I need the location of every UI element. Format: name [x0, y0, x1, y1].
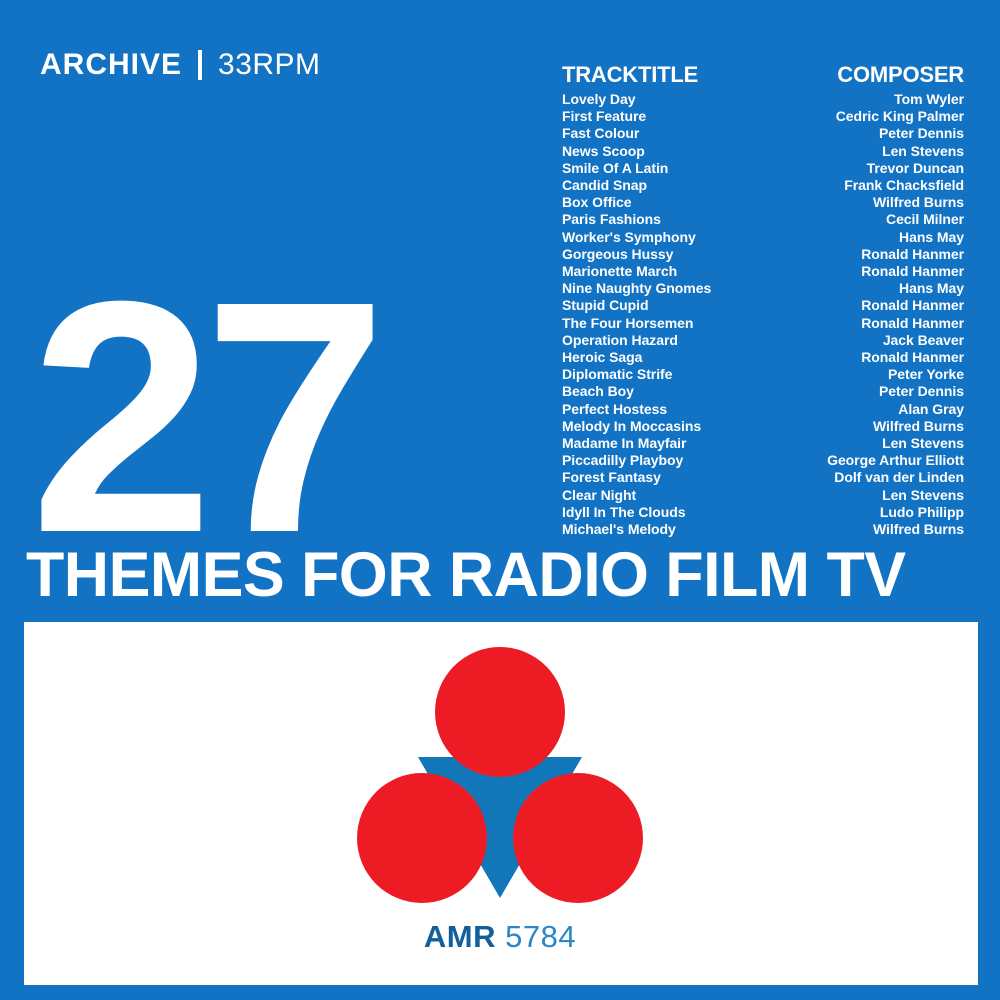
track-composer: George Arthur Elliott [827, 452, 964, 469]
track-title: Forest Fantasy [562, 469, 661, 486]
tracklist-row: Worker's SymphonyHans May [562, 229, 964, 246]
track-composer: Trevor Duncan [867, 160, 964, 177]
column-header-composer: COMPOSER [837, 62, 964, 87]
track-title: Madame In Mayfair [562, 435, 686, 452]
track-composer: Ludo Philipp [880, 504, 964, 521]
tracklist-row: Piccadilly PlayboyGeorge Arthur Elliott [562, 452, 964, 469]
track-composer: Len Stevens [882, 143, 964, 160]
track-composer: Hans May [899, 280, 964, 297]
track-title: Heroic Saga [562, 349, 642, 366]
tracklist-row: Beach BoyPeter Dennis [562, 383, 964, 400]
tracklist: TRACKTITLE COMPOSER Lovely DayTom WylerF… [562, 62, 964, 538]
track-count-numeral: 27 [30, 252, 377, 582]
track-title: Stupid Cupid [562, 297, 649, 314]
logo-circle-right-icon [513, 773, 643, 903]
track-title: First Feature [562, 108, 646, 125]
track-composer: Ronald Hanmer [861, 297, 964, 314]
tracklist-header: TRACKTITLE COMPOSER [562, 62, 964, 87]
brand-divider [198, 50, 202, 80]
catalogue-number: AMR 5784 [0, 920, 1000, 954]
track-composer: Tom Wyler [894, 91, 964, 108]
tracklist-row: First FeatureCedric King Palmer [562, 108, 964, 125]
tracklist-row: Smile Of A LatinTrevor Duncan [562, 160, 964, 177]
track-composer: Peter Dennis [879, 383, 964, 400]
tracklist-row: Clear NightLen Stevens [562, 487, 964, 504]
track-title: Melody In Moccasins [562, 418, 701, 435]
tracklist-row: Diplomatic StrifePeter Yorke [562, 366, 964, 383]
tracklist-row: Perfect HostessAlan Gray [562, 401, 964, 418]
tracklist-row: Michael's MelodyWilfred Burns [562, 521, 964, 538]
track-composer: Wilfred Burns [873, 418, 964, 435]
track-title: Marionette March [562, 263, 677, 280]
tracklist-row: Paris FashionsCecil Milner [562, 211, 964, 228]
track-composer: Cedric King Palmer [836, 108, 964, 125]
track-composer: Jack Beaver [883, 332, 964, 349]
logo-circle-left-icon [357, 773, 487, 903]
tracklist-row: Fast ColourPeter Dennis [562, 125, 964, 142]
track-title: Worker's Symphony [562, 229, 696, 246]
tracklist-row: Heroic SagaRonald Hanmer [562, 349, 964, 366]
track-composer: Ronald Hanmer [861, 315, 964, 332]
track-title: Perfect Hostess [562, 401, 667, 418]
track-composer: Hans May [899, 229, 964, 246]
track-composer: Wilfred Burns [873, 194, 964, 211]
track-title: Diplomatic Strife [562, 366, 672, 383]
track-composer: Len Stevens [882, 435, 964, 452]
brand-name: ARCHIVE [40, 48, 182, 82]
tracklist-row: Nine Naughty GnomesHans May [562, 280, 964, 297]
catalogue-digits: 5784 [505, 919, 576, 954]
track-composer: Ronald Hanmer [861, 263, 964, 280]
tracklist-row: Melody In MoccasinsWilfred Burns [562, 418, 964, 435]
track-composer: Cecil Milner [886, 211, 964, 228]
track-title: Nine Naughty Gnomes [562, 280, 711, 297]
tracklist-rows: Lovely DayTom WylerFirst FeatureCedric K… [562, 91, 964, 538]
tracklist-row: Forest FantasyDolf van der Linden [562, 469, 964, 486]
track-composer: Alan Gray [898, 401, 964, 418]
track-title: News Scoop [562, 143, 645, 160]
album-cover: ARCHIVE 33RPM TRACKTITLE COMPOSER Lovely… [0, 0, 1000, 1000]
track-title: Box Office [562, 194, 632, 211]
track-composer: Ronald Hanmer [861, 246, 964, 263]
track-composer: Peter Yorke [888, 366, 964, 383]
track-title: The Four Horsemen [562, 315, 693, 332]
track-title: Smile Of A Latin [562, 160, 668, 177]
catalogue-prefix: AMR [424, 919, 496, 954]
track-composer: Len Stevens [882, 487, 964, 504]
logo-circle-top-icon [435, 647, 565, 777]
tracklist-row: Lovely DayTom Wyler [562, 91, 964, 108]
tracklist-row: Marionette MarchRonald Hanmer [562, 263, 964, 280]
column-header-tracktitle: TRACKTITLE [562, 62, 698, 87]
tracklist-row: Box OfficeWilfred Burns [562, 194, 964, 211]
track-title: Operation Hazard [562, 332, 678, 349]
track-title: Idyll In The Clouds [562, 504, 686, 521]
track-title: Michael's Melody [562, 521, 676, 538]
tracklist-row: Gorgeous HussyRonald Hanmer [562, 246, 964, 263]
track-composer: Peter Dennis [879, 125, 964, 142]
track-title: Lovely Day [562, 91, 635, 108]
tracklist-row: The Four HorsemenRonald Hanmer [562, 315, 964, 332]
track-composer: Wilfred Burns [873, 521, 964, 538]
tracklist-row: Madame In MayfairLen Stevens [562, 435, 964, 452]
track-composer: Dolf van der Linden [834, 469, 964, 486]
track-composer: Frank Chacksfield [844, 177, 964, 194]
tracklist-row: Idyll In The CloudsLudo Philipp [562, 504, 964, 521]
record-speed: 33RPM [218, 48, 321, 82]
track-title: Fast Colour [562, 125, 639, 142]
track-title: Clear Night [562, 487, 636, 504]
tracklist-row: Candid SnapFrank Chacksfield [562, 177, 964, 194]
track-title: Candid Snap [562, 177, 647, 194]
track-title: Gorgeous Hussy [562, 246, 673, 263]
tracklist-row: Operation HazardJack Beaver [562, 332, 964, 349]
tracklist-row: News ScoopLen Stevens [562, 143, 964, 160]
brand-lockup: ARCHIVE 33RPM [40, 48, 321, 82]
track-title: Paris Fashions [562, 211, 661, 228]
track-composer: Ronald Hanmer [861, 349, 964, 366]
track-title: Beach Boy [562, 383, 634, 400]
page-title: THEMES FOR RADIO FILM TV [26, 543, 971, 607]
track-title: Piccadilly Playboy [562, 452, 683, 469]
tracklist-row: Stupid CupidRonald Hanmer [562, 297, 964, 314]
